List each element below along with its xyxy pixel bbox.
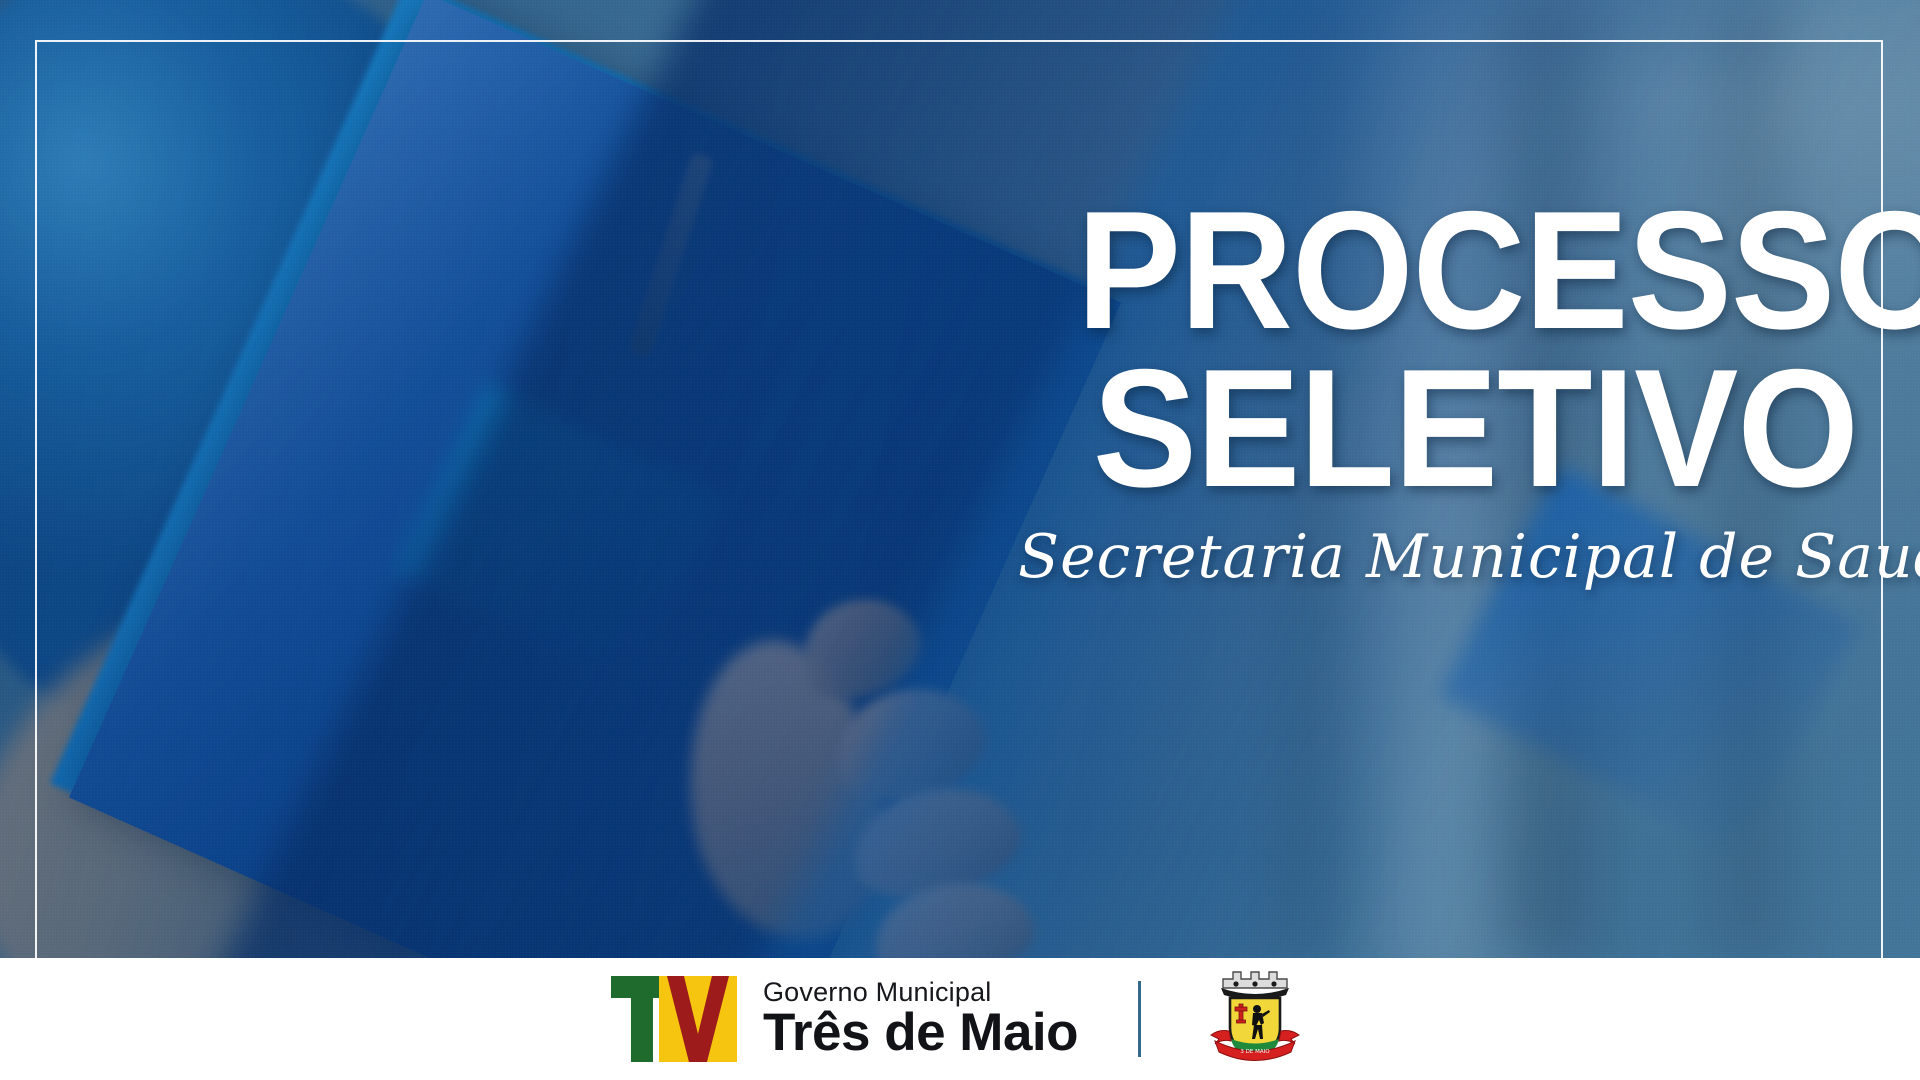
footer-bar: Governo Municipal Três de Maio	[0, 958, 1920, 1080]
coat-of-arms-icon: 3 DE MAIO	[1201, 967, 1309, 1071]
government-logo: Governo Municipal Três de Maio	[611, 976, 1078, 1062]
brand-text: Governo Municipal Três de Maio	[763, 978, 1078, 1060]
subtitle-script: Secretaria Municipal de Saude	[1018, 527, 1858, 587]
headline-line-2: SELETIVO	[1077, 356, 1858, 500]
brand-name: Três de Maio	[763, 1006, 1078, 1060]
brand-prefix: Governo Municipal	[763, 978, 1078, 1006]
coat-motto: 3 DE MAIO	[1240, 1049, 1270, 1055]
processo-seletivo-banner: PROCESSO SELETIVO Secretaria Municipal d…	[0, 0, 1920, 1080]
footer-divider	[1138, 981, 1141, 1057]
tm-monogram-icon	[611, 976, 737, 1062]
title-block: PROCESSO SELETIVO Secretaria Municipal d…	[1018, 198, 1858, 587]
hero-photo: PROCESSO SELETIVO Secretaria Municipal d…	[0, 0, 1920, 958]
headline-line-1: PROCESSO	[1077, 198, 1858, 342]
